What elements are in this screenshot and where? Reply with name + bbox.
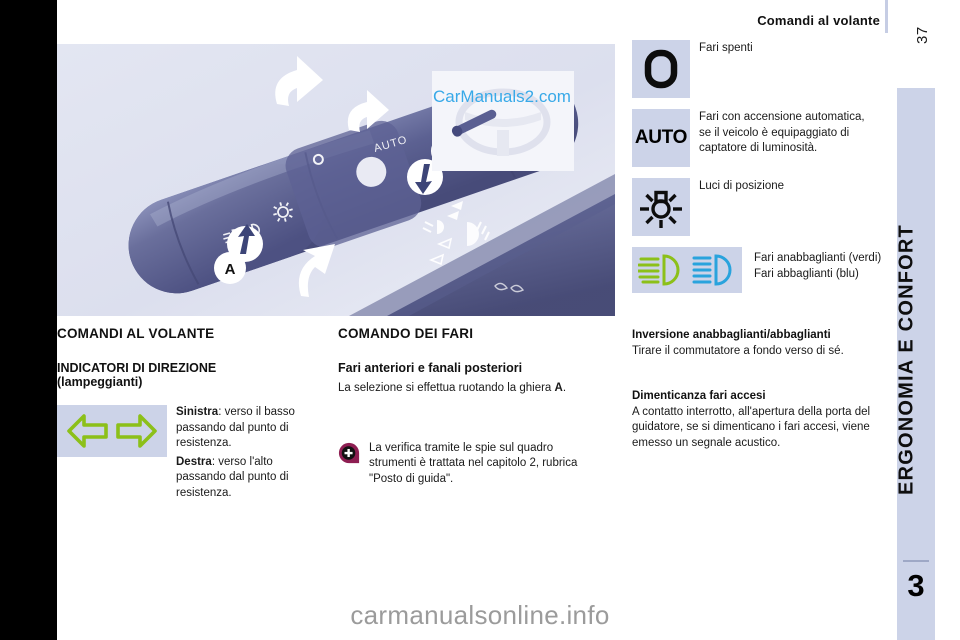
auto-icon-label: AUTO <box>635 127 687 149</box>
dipped-beam-green-icon <box>638 253 684 287</box>
ghiera-ref-a: A <box>555 382 563 394</box>
ghiera-text-post: . <box>563 382 566 394</box>
info-note-text-wrap: La verifica tramite le spie sul quadro s… <box>369 441 601 491</box>
hero-watermark-text: CarManuals2.com <box>402 87 602 107</box>
dimenticanza-text: A contatto interrotto, all'apertura dell… <box>632 405 894 452</box>
section-title-comando-fari: COMANDO DEI FARI <box>338 326 608 341</box>
page-number: 37 <box>914 26 931 44</box>
header-divider-rule <box>885 0 888 33</box>
left-black-gutter <box>0 0 57 640</box>
ghiera-text-pre: La selezione si effettua ruotando la ghi… <box>338 382 555 394</box>
destra-paragraph: Destra: verso l'alto passando dal punto … <box>176 455 319 502</box>
light-auto-line-3: captatore di luminosità. <box>699 141 865 157</box>
light-mode-off-text: Fari spenti <box>699 40 753 98</box>
light-mode-beams-text: Fari anabbaglianti (verdi) Fari abbaglia… <box>754 247 881 293</box>
arrow-left-icon <box>66 411 110 451</box>
dimenticanza-block: Dimenticanza fari accesi A contatto inte… <box>632 390 894 452</box>
manual-page: Comandi al volante 37 ERGONOMIA E CONFOR… <box>0 0 960 640</box>
light-mode-auto-text: Fari con accensione automatica, se il ve… <box>699 109 865 167</box>
light-auto-line-1: Fari con accensione automatica, <box>699 110 865 126</box>
inversione-text: Tirare il commutatore a fondo verso di s… <box>632 344 894 360</box>
dimenticanza-title: Dimenticanza fari accesi <box>632 390 894 402</box>
indicatori-line1: INDICATORI DI DIREZIONE <box>57 361 216 375</box>
destra-label: Destra <box>176 456 212 468</box>
chapter-title: ERGONOMIA E CONFORT <box>896 130 919 590</box>
column-middle: COMANDO DEI FARI Fari anteriori e fanali… <box>338 326 608 490</box>
inversione-title: Inversione anabbaglianti/abbaglianti <box>632 329 894 341</box>
column-left: COMANDI AL VOLANTE INDICATORI DI DIREZIO… <box>57 326 319 504</box>
info-note-text: La verifica tramite le spie sul quadro s… <box>369 441 601 488</box>
light-mode-row-beams: Fari anabbaglianti (verdi) Fari abbaglia… <box>632 247 894 293</box>
headlamps-off-icon <box>632 40 690 98</box>
indicator-row: Sinistra: verso il basso passando dal pu… <box>57 405 319 504</box>
chapter-divider <box>903 560 929 562</box>
subsection-title-indicatori: INDICATORI DI DIREZIONE (lampeggianti) <box>57 361 319 389</box>
light-mode-position-text: Luci di posizione <box>699 178 784 236</box>
dipped-main-beam-icon <box>632 247 742 293</box>
chapter-tab: ERGONOMIA E CONFORT 3 <box>897 88 935 640</box>
main-beam-blue-icon <box>690 253 736 287</box>
info-plus-icon <box>338 442 360 464</box>
chapter-number: 3 <box>897 568 935 604</box>
svg-text:A: A <box>225 261 236 278</box>
turn-signal-arrows-icon <box>57 405 167 457</box>
indicator-description: Sinistra: verso il basso passando dal pu… <box>176 405 319 504</box>
light-mode-row-auto: AUTO Fari con accensione automatica, se … <box>632 109 894 167</box>
column-right: Fari spenti AUTO Fari con accensione aut… <box>632 40 894 454</box>
light-off-line-1: Fari spenti <box>699 41 753 57</box>
page-header: Comandi al volante <box>600 12 880 34</box>
light-beams-line-2: Fari abbaglianti (blu) <box>754 267 881 283</box>
light-mode-row-off: Fari spenti <box>632 40 894 98</box>
position-lamps-icon <box>632 178 690 236</box>
stalk-illustration: AUTO <box>57 44 615 316</box>
light-beams-line-1: Fari anabbaglianti (verdi) <box>754 251 881 267</box>
light-position-line-1: Luci di posizione <box>699 179 784 195</box>
indicatori-line2: (lampeggianti) <box>57 375 142 389</box>
arrow-right-icon <box>114 411 158 451</box>
light-mode-row-position: Luci di posizione <box>632 178 894 236</box>
ghiera-paragraph: La selezione si effettua ruotando la ghi… <box>338 381 608 397</box>
info-note: La verifica tramite le spie sul quadro s… <box>338 441 608 491</box>
auto-headlamps-icon: AUTO <box>632 109 690 167</box>
inversione-block: Inversione anabbaglianti/abbaglianti Tir… <box>632 329 894 360</box>
section-title-comandi: COMANDI AL VOLANTE <box>57 326 319 341</box>
light-auto-line-2: se il veicolo è equipaggiato di <box>699 126 865 142</box>
subsection-title-fari-anteriori: Fari anteriori e fanali posteriori <box>338 361 608 375</box>
sinistra-paragraph: Sinistra: verso il basso passando dal pu… <box>176 405 319 452</box>
sinistra-label: Sinistra <box>176 406 218 418</box>
page-title: Comandi al volante <box>757 13 880 28</box>
bottom-watermark: carmanualsonline.info <box>0 600 960 631</box>
